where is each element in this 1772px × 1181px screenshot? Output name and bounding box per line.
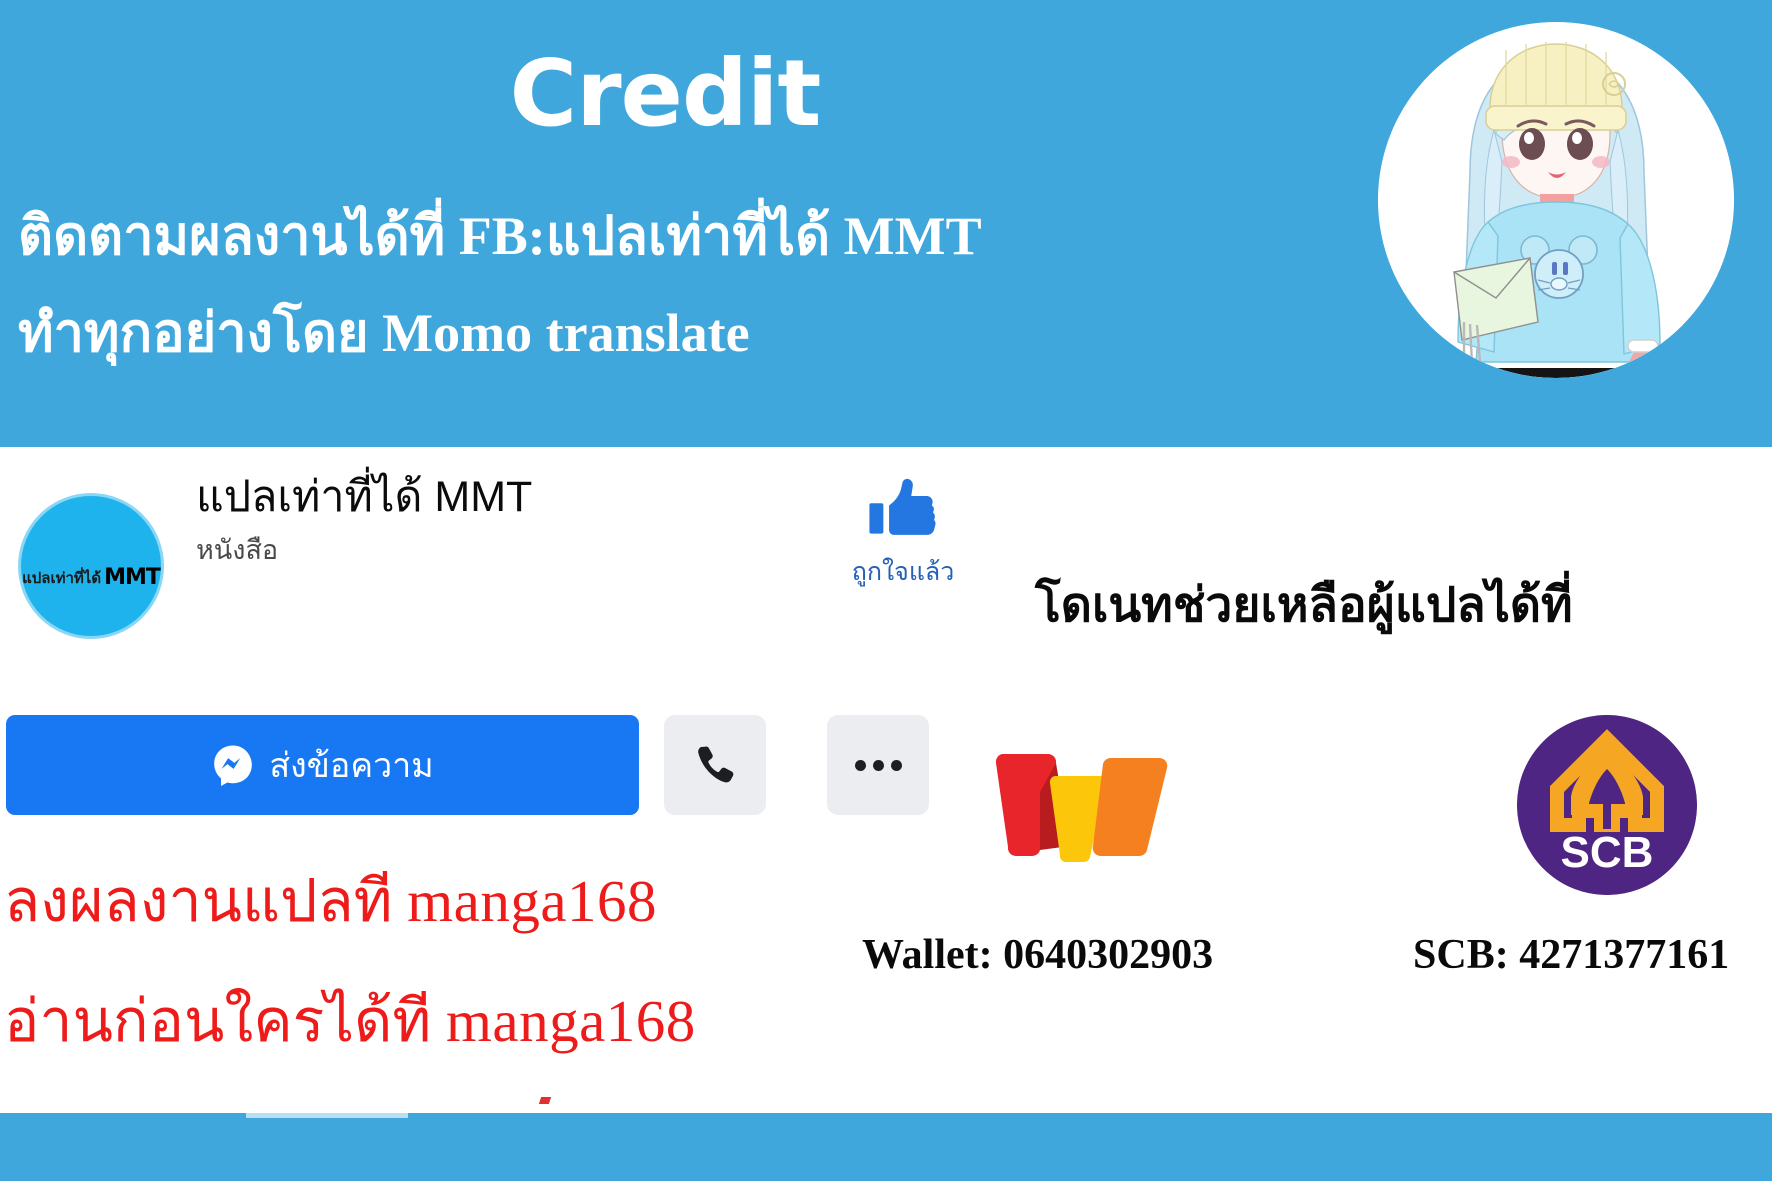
hero-credit-line-1: ติดตามผลงานได้ที่ FB:แปลเท่าที่ได้ MMT (18, 208, 982, 265)
messenger-icon (211, 743, 255, 787)
scb-number: SCB: 4271377161 (1413, 931, 1729, 979)
bottom-bar (0, 1113, 1772, 1181)
promo-line-2-site: manga168 (446, 988, 696, 1054)
page-logo-mmt-text: MMT (104, 567, 160, 589)
like-label: ถูกใจแล้ว (838, 552, 968, 592)
hero-banner: Credit ติดตามผลงานได้ที่ FB:แปลเท่าที่ได… (0, 0, 1772, 447)
scb-bank-logo: SCB (1517, 715, 1697, 895)
promo-line-2-thai: อ่านก่อนใครได้ที (4, 988, 431, 1054)
hero-credit-line-2: ทำทุกอย่างโดย Momo translate (18, 305, 750, 362)
promo-line-1-thai: ลงผลงานแปลที (4, 868, 392, 934)
send-message-label: ส่งข้อความ (269, 738, 433, 792)
thumbs-up-icon (865, 470, 941, 546)
red-artifact (539, 1097, 551, 1104)
truemoney-wallet-logo (994, 742, 1174, 862)
like-status[interactable]: ถูกใจแล้ว (838, 470, 968, 592)
bottom-bar-highlight (246, 1113, 408, 1118)
call-button[interactable] (664, 715, 766, 815)
send-message-button[interactable]: ส่งข้อความ (6, 715, 639, 815)
page-logo-thai-text: แปลเท่าที่ได้ (22, 571, 101, 586)
page-title: Credit (0, 48, 1330, 140)
promo-line-1-site: manga168 (407, 868, 657, 934)
avatar (1378, 22, 1734, 378)
truemoney-wallet-icon (994, 742, 1174, 862)
page-logo[interactable]: แปลเท่าที่ได้MMT (18, 493, 164, 639)
credit-page: Credit ติดตามผลงานได้ที่ FB:แปลเท่าที่ได… (0, 0, 1772, 1181)
donate-heading: โดเนทช่วยเหลือผู้แปลได้ที่ (1035, 567, 1573, 643)
scb-logo-text: SCB (1561, 828, 1654, 877)
phone-icon (692, 742, 738, 788)
page-name[interactable]: แปลเท่าที่ได้ MMT (196, 462, 532, 530)
page-category: หนังสือ (196, 528, 278, 571)
promo-line-2: อ่านก่อนใครได้ที manga168 (4, 992, 696, 1051)
scb-bank-icon: SCB (1517, 715, 1697, 895)
promo-line-1: ลงผลงานแปลที manga168 (4, 872, 657, 931)
more-options-button[interactable] (827, 715, 929, 815)
ellipsis-icon (855, 760, 902, 771)
anime-girl-avatar (1378, 22, 1734, 378)
wallet-number: Wallet: 0640302903 (862, 931, 1213, 979)
